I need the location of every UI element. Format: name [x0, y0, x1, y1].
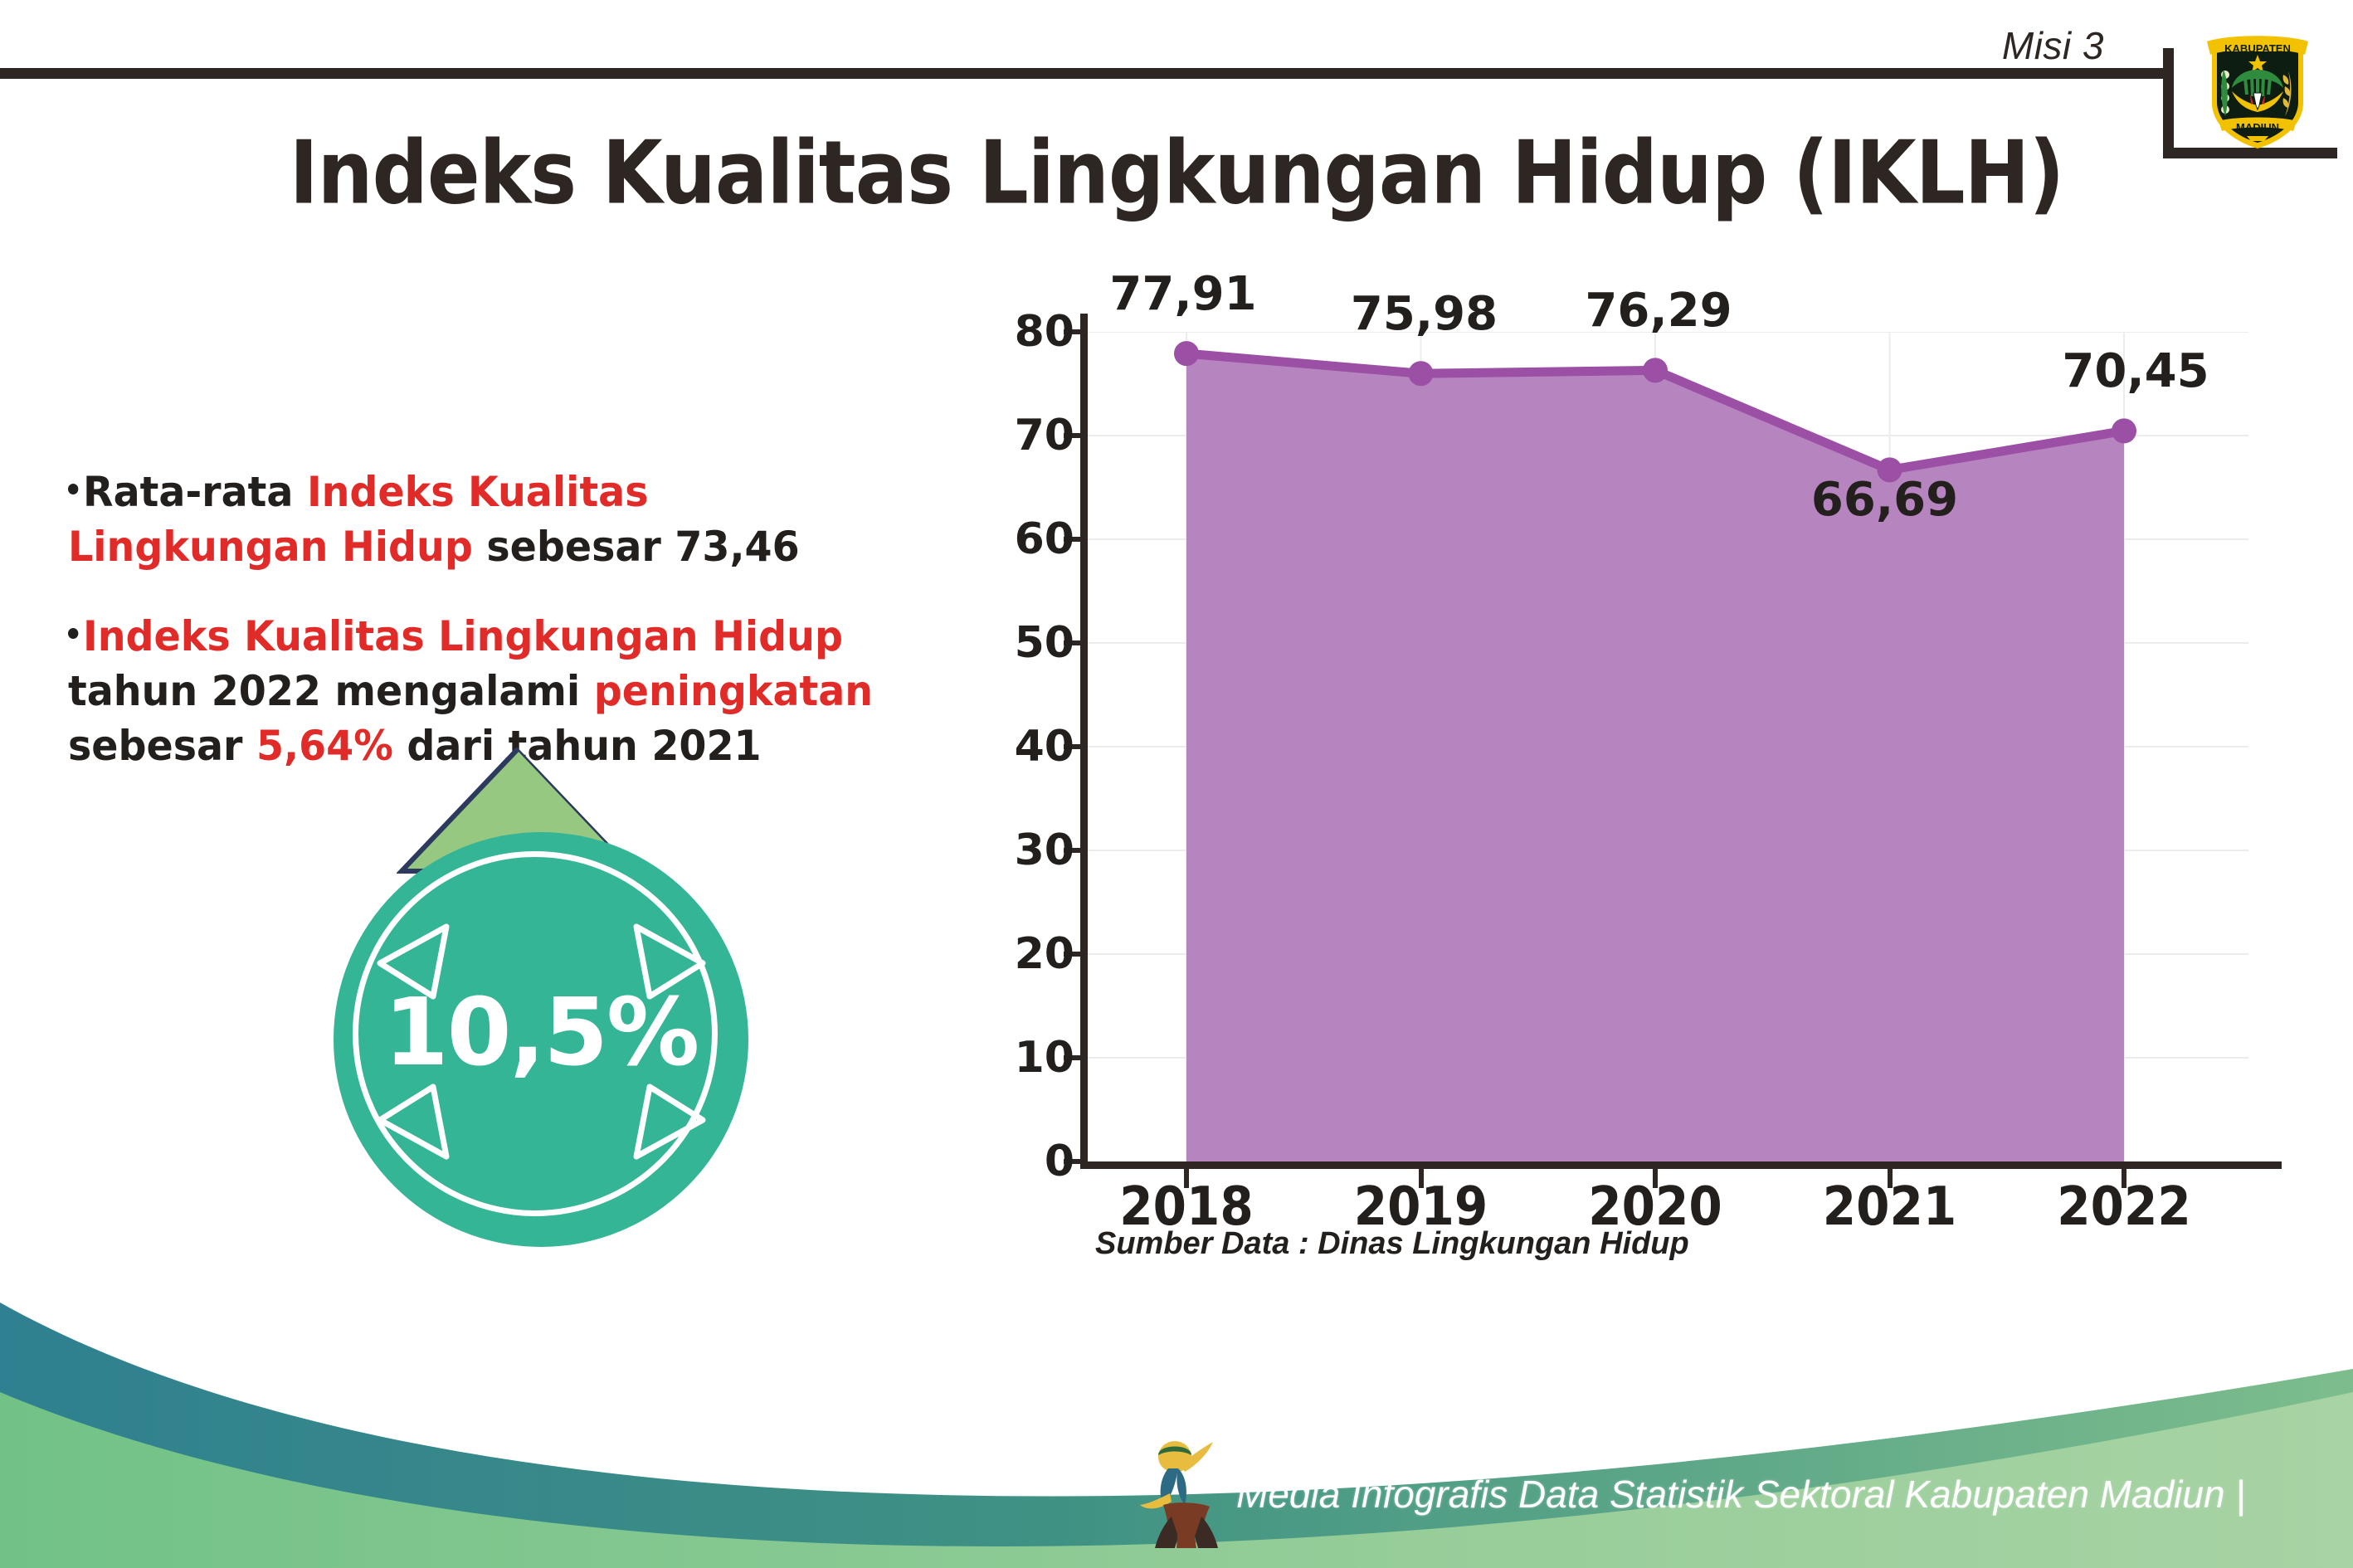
data-point-label: 70,45	[2062, 344, 2209, 398]
bullet-text-segment: tahun 2022 mengalami	[68, 667, 594, 715]
data-point-label: 75,98	[1351, 287, 1498, 341]
mission-label: Misi 3	[2002, 23, 2104, 68]
y-axis-tick-label: 50	[967, 618, 1074, 668]
crest-top-label: KABUPATEN	[2224, 42, 2291, 55]
source-note: Sumber Data : Dinas Lingkungan Hidup	[1095, 1226, 1689, 1262]
data-point-label: 76,29	[1585, 284, 1732, 338]
data-point-marker	[2112, 418, 2136, 443]
dancer-logo-icon	[1138, 1434, 1235, 1550]
x-axis-tick-label: 2021	[1799, 1176, 1981, 1238]
chart-plot-area	[1087, 332, 2248, 1161]
y-axis-tick-label: 10	[967, 1033, 1074, 1083]
bullet-dot	[68, 484, 78, 494]
infographic-slide: Misi 3 KABUPATEN MADIUN Indeks Kualitas …	[0, 0, 2353, 1568]
footer-label: Media Infografis Data Statistik Sektoral…	[1236, 1472, 2245, 1517]
y-axis-tick-label: 20	[967, 929, 1074, 979]
y-axis-line	[1080, 314, 1088, 1168]
growth-badge: 10,5%	[324, 747, 797, 1228]
bullet-text-segment: sebesar	[68, 722, 256, 770]
data-point-label: 66,69	[1811, 473, 1958, 527]
bullet-text-segment: Rata-rata	[83, 468, 307, 516]
arrow-triangle-bottom-left-icon	[373, 1077, 465, 1168]
badge-value-label: 10,5%	[334, 979, 748, 1087]
x-axis-tick-label: 2022	[2033, 1176, 2215, 1238]
header-divider-line	[0, 68, 2163, 79]
data-point-marker	[1643, 358, 1668, 382]
data-point-marker	[1174, 341, 1199, 366]
bullet-dot	[68, 628, 78, 639]
y-axis-tick-label: 80	[967, 307, 1074, 357]
x-axis-line	[1080, 1161, 2282, 1169]
iklh-area-chart: 01020304050607080 20182019202020212022 7…	[954, 299, 2282, 1178]
y-axis-tick-label: 70	[967, 411, 1074, 460]
page-title: Indeks Kualitas Lingkungan Hidup (IKLH)	[0, 123, 2353, 224]
arrow-triangle-bottom-right-icon	[618, 1077, 709, 1168]
bullet-text-segment: peningkatan	[594, 667, 873, 715]
y-axis-tick-label: 30	[967, 825, 1074, 875]
bullet-text-segment: sebesar 73,46	[473, 523, 800, 571]
y-axis-tick-label: 40	[967, 722, 1074, 772]
area-fill	[1186, 353, 2124, 1161]
bullet-item: Rata-rata Indeks Kualitas Lingkungan Hid…	[68, 465, 880, 574]
y-axis-tick-label: 0	[967, 1137, 1074, 1186]
bullet-text-segment: Indeks Kualitas Lingkungan Hidup	[83, 612, 843, 660]
data-point-marker	[1409, 361, 1434, 386]
y-axis-tick-label: 60	[967, 514, 1074, 564]
data-point-label: 77,91	[1109, 267, 1256, 321]
